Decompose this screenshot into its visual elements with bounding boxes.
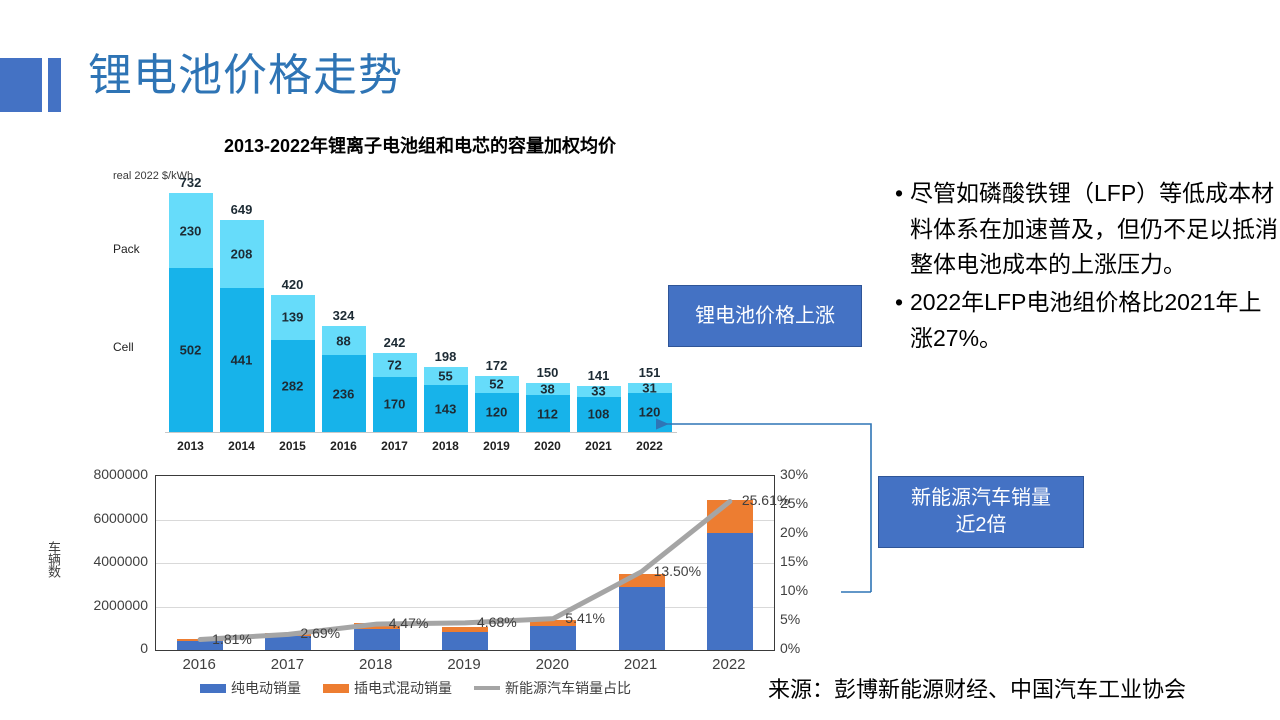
battery-price-x-label: 2018 (424, 439, 468, 453)
battery-price-axis-label-pack: Pack (113, 242, 140, 256)
nev-share-y2-tick: 5% (780, 611, 800, 627)
bullet-label: 尽管如磷酸铁锂（LFP）等低成本材料体系在加速普及，但仍不足以抵消整体电池成本的… (910, 176, 1278, 283)
battery-price-segment-cell: 441 (220, 288, 264, 432)
bullet-marker: • (888, 176, 910, 212)
legend-label: 新能源汽车销量占比 (505, 678, 631, 698)
battery-price-total-label: 172 (475, 358, 519, 373)
nev-sales-x-label: 2017 (247, 656, 327, 673)
battery-price-segment-pack: 88 (322, 326, 366, 355)
legend-label: 纯电动销量 (231, 678, 301, 698)
battery-price-cell-value: 120 (486, 405, 508, 420)
battery-price-bar-2013: 230502732 (169, 193, 213, 432)
nev-share-data-label: 13.50% (654, 563, 701, 579)
battery-price-segment-pack: 33 (577, 386, 621, 397)
battery-price-bar-2021: 33108141 (577, 386, 621, 432)
battery-price-x-label: 2022 (628, 439, 672, 453)
battery-price-segment-pack: 52 (475, 376, 519, 393)
battery-price-pack-value: 208 (231, 247, 253, 262)
nev-sales-x-label: 2022 (689, 656, 769, 673)
battery-price-bars: 2305027322084416491392824208823632472170… (165, 184, 675, 432)
battery-price-bar-2018: 55143198 (424, 367, 468, 432)
battery-price-segment-cell: 143 (424, 385, 468, 432)
battery-price-segment-pack: 38 (526, 383, 570, 395)
battery-price-total-label: 324 (322, 308, 366, 323)
nev-sales-x-label: 2021 (601, 656, 681, 673)
battery-price-cell-value: 282 (282, 378, 304, 393)
nev-sales-y-tick: 6000000 (60, 510, 148, 526)
battery-price-cell-value: 143 (435, 401, 457, 416)
nev-share-y2-tick: 0% (780, 640, 800, 656)
battery-price-pack-value: 72 (387, 357, 401, 372)
battery-price-total-label: 420 (271, 277, 315, 292)
battery-price-total-label: 141 (577, 368, 621, 383)
legend-color-swatch (200, 684, 226, 693)
battery-price-pack-value: 55 (438, 369, 452, 384)
nev-sales-y-tick: 4000000 (60, 553, 148, 569)
callout-price-rise-label: 锂电池价格上涨 (695, 303, 835, 330)
nev-share-y2-tick: 15% (780, 553, 808, 569)
battery-price-bar-2014: 208441649 (220, 220, 264, 432)
battery-price-segment-pack: 72 (373, 353, 417, 376)
nev-sales-x-label: 2016 (159, 656, 239, 673)
legend-label: 插电式混动销量 (354, 678, 452, 698)
battery-price-total-label: 732 (169, 175, 213, 190)
battery-price-bar-2017: 72170242 (373, 353, 417, 432)
bullet-label: 2022年LFP电池组价格比2021年上涨27%。 (910, 285, 1278, 356)
battery-price-total-label: 150 (526, 365, 570, 380)
callout-nev-sales-label: 新能源汽车销量 近2倍 (911, 485, 1051, 539)
battery-price-segment-cell: 108 (577, 397, 621, 432)
battery-price-bar-2020: 38112150 (526, 383, 570, 432)
battery-price-segment-pack: 139 (271, 295, 315, 340)
nev-sales-x-label: 2019 (424, 656, 504, 673)
nev-share-y2-tick: 20% (780, 524, 808, 540)
battery-price-pack-value: 52 (489, 377, 503, 392)
battery-price-axis-line (165, 432, 677, 433)
battery-price-chart: 2013-2022年锂离子电池组和电芯的容量加权均价 real 2022 $/k… (110, 132, 680, 467)
battery-price-segment-cell: 170 (373, 377, 417, 432)
battery-price-segment-pack: 55 (424, 367, 468, 385)
legend-item[interactable]: 插电式混动销量 (323, 678, 452, 698)
title-accent-bar-narrow (48, 58, 61, 112)
nev-sales-y-tick: 8000000 (60, 466, 148, 482)
bullet-item: • 2022年LFP电池组价格比2021年上涨27%。 (888, 285, 1278, 356)
battery-price-segment-cell: 502 (169, 268, 213, 432)
callout-price-rise[interactable]: 锂电池价格上涨 (668, 285, 862, 347)
battery-price-total-label: 649 (220, 202, 264, 217)
nev-sales-plot-area: 1.81%2.69%4.47%4.68%5.41%13.50%25.61% (155, 475, 775, 651)
nev-sales-chart: 车辆数 02000000400000060000008000000 0%5%10… (60, 463, 850, 708)
battery-price-bar-2022: 31120151 (628, 383, 672, 432)
nev-share-data-label: 2.69% (300, 625, 340, 641)
nev-share-data-label: 4.47% (389, 615, 429, 631)
battery-price-bar-2019: 52120172 (475, 376, 519, 432)
nev-share-y2-tick: 30% (780, 466, 808, 482)
nev-sales-x-label: 2020 (512, 656, 592, 673)
bullet-marker: • (888, 285, 910, 321)
battery-price-cell-value: 108 (588, 407, 610, 422)
nev-sales-legend: 纯电动销量插电式混动销量新能源汽车销量占比 (200, 678, 645, 698)
nev-share-data-label: 5.41% (565, 610, 605, 626)
nev-sales-y-tick: 2000000 (60, 597, 148, 613)
battery-price-cell-value: 170 (384, 397, 406, 412)
battery-price-cell-value: 502 (180, 343, 202, 358)
commentary-text: • 尽管如磷酸铁锂（LFP）等低成本材料体系在加速普及，但仍不足以抵消整体电池成… (888, 176, 1278, 358)
battery-price-pack-value: 139 (282, 310, 304, 325)
nev-share-data-label: 1.81% (212, 631, 252, 647)
battery-price-x-label: 2019 (475, 439, 519, 453)
nev-sales-x-label: 2018 (336, 656, 416, 673)
battery-price-segment-pack: 230 (169, 193, 213, 268)
battery-price-x-label: 2016 (322, 439, 366, 453)
callout-nev-sales-line1: 新能源汽车销量 (911, 487, 1051, 509)
callout-nev-sales-line2: 近2倍 (955, 514, 1006, 536)
legend-color-swatch (323, 684, 349, 693)
battery-price-segment-cell: 120 (628, 393, 672, 432)
battery-price-axis-label-cell: Cell (113, 340, 134, 354)
legend-item[interactable]: 纯电动销量 (200, 678, 301, 698)
source-note: 来源：彭博新能源财经、中国汽车工业协会 (768, 672, 1186, 704)
page-title: 锂电池价格走势 (88, 50, 403, 103)
battery-price-x-label: 2013 (169, 439, 213, 453)
battery-price-segment-pack: 208 (220, 220, 264, 288)
battery-price-x-label: 2020 (526, 439, 570, 453)
battery-price-chart-title: 2013-2022年锂离子电池组和电芯的容量加权均价 (170, 132, 670, 158)
legend-line-swatch (474, 686, 500, 690)
battery-price-x-label: 2017 (373, 439, 417, 453)
battery-price-x-label: 2014 (220, 439, 264, 453)
battery-price-x-label: 2015 (271, 439, 315, 453)
bullet-item: • 尽管如磷酸铁锂（LFP）等低成本材料体系在加速普及，但仍不足以抵消整体电池成… (888, 176, 1278, 283)
battery-price-total-label: 242 (373, 335, 417, 350)
nev-share-y2-tick: 10% (780, 582, 808, 598)
legend-item[interactable]: 新能源汽车销量占比 (474, 678, 631, 698)
battery-price-total-label: 198 (424, 349, 468, 364)
battery-price-bar-2016: 88236324 (322, 326, 366, 432)
nev-share-data-label: 4.68% (477, 614, 517, 630)
battery-price-cell-value: 112 (537, 406, 558, 421)
battery-price-segment-cell: 282 (271, 340, 315, 432)
battery-price-cell-value: 120 (639, 405, 661, 420)
callout-nev-sales[interactable]: 新能源汽车销量 近2倍 (878, 476, 1084, 548)
battery-price-pack-value: 230 (180, 223, 202, 238)
battery-price-cell-value: 441 (231, 353, 253, 368)
battery-price-total-label: 151 (628, 365, 672, 380)
battery-price-pack-value: 88 (336, 333, 350, 348)
battery-price-segment-cell: 120 (475, 393, 519, 432)
battery-price-cell-value: 236 (333, 386, 355, 401)
battery-price-x-label: 2021 (577, 439, 621, 453)
nev-share-data-label: 25.61% (742, 492, 789, 508)
battery-price-segment-cell: 112 (526, 395, 570, 432)
battery-price-segment-pack: 31 (628, 383, 672, 393)
battery-price-segment-cell: 236 (322, 355, 366, 432)
battery-price-bar-2015: 139282420 (271, 295, 315, 432)
nev-sales-y-tick: 0 (60, 640, 148, 656)
title-accent-bar-wide (0, 58, 42, 112)
